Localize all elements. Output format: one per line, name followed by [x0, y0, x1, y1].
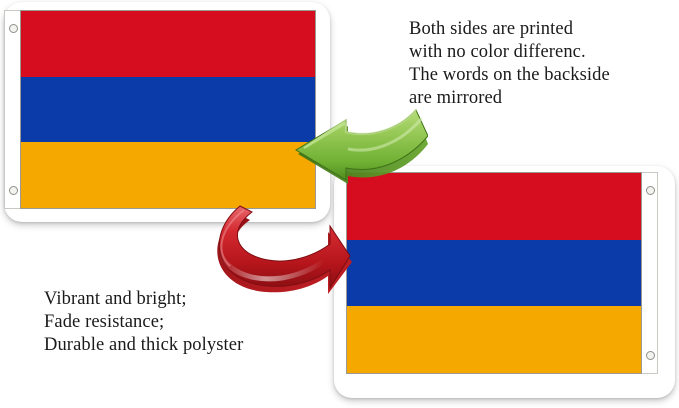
flag-back-stripe-blue: [347, 240, 641, 307]
flag-front-stripe-blue: [21, 77, 315, 143]
flag-front-stripe-red: [21, 11, 315, 77]
product-image-canvas: Both sides are printed with no color dif…: [0, 0, 679, 408]
grommet-icon: [646, 351, 655, 360]
flag-back-stripes: [346, 172, 642, 374]
flag-front-hoist-sleeve: [4, 10, 20, 209]
flag-front: [4, 10, 316, 209]
flag-back: [346, 172, 658, 374]
flag-back-stripe-orange: [347, 306, 641, 373]
red-curved-arrow-icon: [196, 196, 352, 302]
grommet-icon: [9, 186, 18, 195]
green-curved-arrow-icon: [292, 92, 428, 194]
flag-back-hoist-sleeve: [642, 172, 658, 374]
grommet-icon: [9, 24, 18, 33]
caption-both-sides-printed: Both sides are printed with no color dif…: [409, 18, 675, 110]
flag-front-stripes: [20, 10, 316, 209]
caption-vibrant-and-bright: Vibrant and bright; Fade resistance; Dur…: [44, 288, 334, 357]
grommet-icon: [646, 186, 655, 195]
